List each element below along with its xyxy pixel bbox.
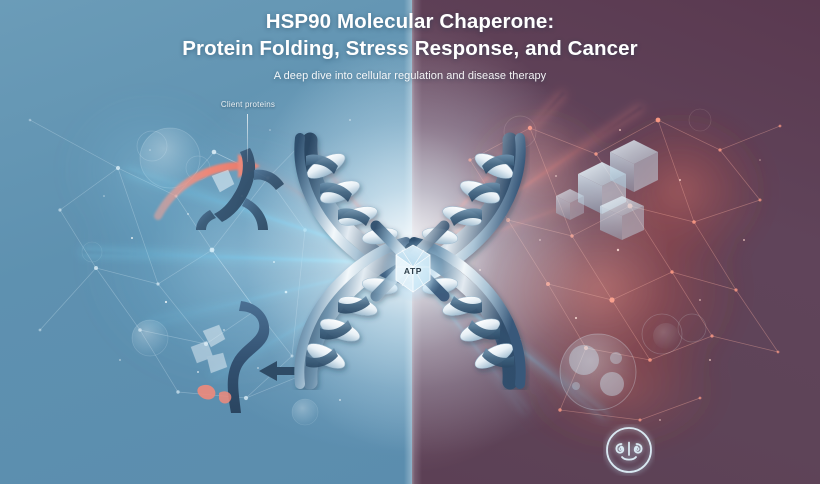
client-proteins-label: Client proteins bbox=[188, 100, 308, 109]
coral-fragments bbox=[197, 385, 231, 404]
page-subtitle: A deep dive into cellular regulation and… bbox=[0, 70, 820, 82]
crystal-cube-cluster bbox=[548, 130, 698, 260]
client-proteins-callout: Client proteins bbox=[188, 100, 308, 109]
brand-logo[interactable] bbox=[603, 424, 655, 476]
title-line-2: Protein Folding, Stress Response, and Ca… bbox=[0, 35, 820, 62]
atp-binding-site: ATP bbox=[382, 240, 444, 302]
page-title: HSP90 Molecular Chaperone: Protein Foldi… bbox=[0, 8, 820, 63]
title-line-1: HSP90 Molecular Chaperone: bbox=[0, 8, 820, 35]
callout-leader-line bbox=[247, 114, 248, 162]
crystal-cluster-left bbox=[191, 325, 227, 373]
poster-canvas: ATP Client proteins HSP90 Molecular Chap… bbox=[0, 0, 820, 484]
atp-label: ATP bbox=[382, 240, 444, 302]
poster-header: HSP90 Molecular Chaperone: Protein Foldi… bbox=[0, 0, 820, 82]
protein-strand-group-2 bbox=[228, 301, 269, 413]
